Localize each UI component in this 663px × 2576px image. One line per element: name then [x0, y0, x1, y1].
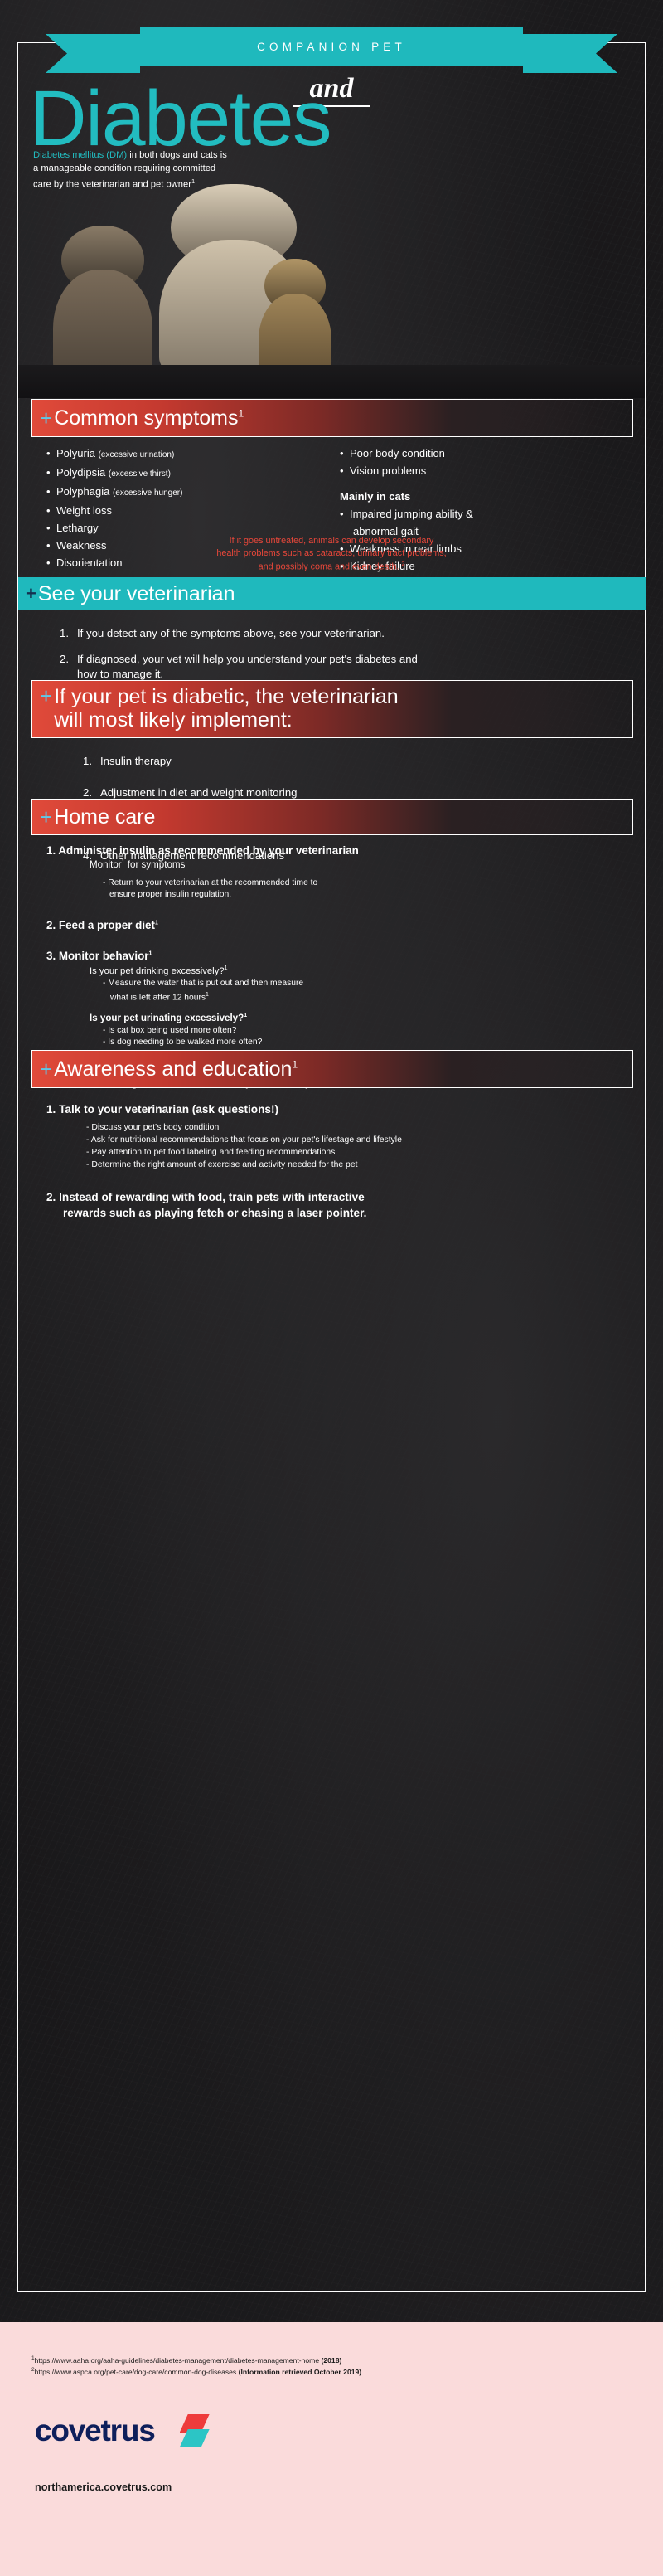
- page-title: Diabetes: [30, 80, 643, 158]
- ribbon-tail-left: [46, 34, 140, 73]
- awareness-title: Awareness and education1: [54, 1057, 298, 1081]
- photo-floor: [18, 365, 645, 398]
- common-symptoms-title: Common symptoms1: [54, 406, 244, 430]
- covetrus-mark-icon: [165, 2414, 211, 2447]
- list-item: Polyphagia (excessive hunger): [46, 483, 204, 502]
- reference-1: 1https://www.aaha.org/aaha-guidelines/di…: [31, 2354, 361, 2365]
- home-care-question-1-notes: - Measure the water that is put out and …: [103, 978, 618, 1004]
- list-item: Polydipsia (excessive thirst): [46, 464, 204, 483]
- warning-line-1: If it goes untreated, animals can develo…: [50, 535, 613, 547]
- awareness-content: 1. Talk to your veterinarian (ask questi…: [46, 1103, 627, 1221]
- list-item: 2. If diagnosed, your vet will help you …: [60, 652, 607, 682]
- awareness-step-2: 2. Instead of rewarding with food, train…: [46, 1189, 627, 1221]
- section-header-if-diabetic: + If your pet is diabetic, the veterinar…: [31, 680, 633, 738]
- footer: 1https://www.aaha.org/aaha-guidelines/di…: [0, 2322, 663, 2576]
- covetrus-logo[interactable]: covetrus: [35, 2413, 211, 2448]
- website-url[interactable]: northamerica.covetrus.com: [35, 2481, 172, 2493]
- home-care-question-2: Is your pet urinating excessively?1: [90, 1013, 618, 1023]
- awareness-step-1: 1. Talk to your veterinarian (ask questi…: [46, 1103, 627, 1115]
- infographic-page: COMPANION PET and Diabetes Diabetes mell…: [0, 0, 663, 2576]
- see-vet-title: See your veterinarian: [38, 582, 235, 605]
- list-item: Weight loss: [46, 502, 204, 519]
- home-care-step-1: 1. Administer insulin as recommended by …: [46, 844, 618, 857]
- list-item: Poor body condition: [340, 445, 605, 462]
- warning-ref: 2: [401, 561, 404, 567]
- if-diabetic-title: If your pet is diabetic, the veterinaria…: [54, 685, 399, 731]
- reference-2: 2https://www.aspca.org/pet-care/dog-care…: [31, 2365, 361, 2377]
- home-care-title: Home care: [54, 805, 155, 829]
- home-care-return-note: - Return to your veterinarian at the rec…: [103, 877, 618, 901]
- list-item: Vision problems: [340, 462, 605, 479]
- section-header-awareness-education: + Awareness and education1: [31, 1050, 633, 1088]
- intro-highlight: Diabetes mellitus (DM): [33, 150, 127, 160]
- pug-silhouette: [53, 226, 152, 383]
- section-header-home-care: + Home care: [31, 799, 633, 835]
- list-item: Lethargy: [46, 519, 204, 537]
- plus-icon: +: [40, 685, 52, 707]
- symptoms-right-list: Poor body condition Vision problems: [340, 445, 605, 479]
- list-item: Polyuria (excessive urination): [46, 445, 204, 464]
- covetrus-wordmark: covetrus: [35, 2413, 155, 2448]
- section-header-see-your-veterinarian: + See your veterinarian: [18, 577, 646, 610]
- symptoms-warning: If it goes untreated, animals can develo…: [50, 535, 613, 573]
- plus-icon: +: [40, 407, 52, 429]
- cats-subheading: Mainly in cats: [340, 488, 605, 505]
- list-item: 1. Insulin therapy: [83, 753, 597, 770]
- home-care-monitor: Monitor1 for symptoms: [90, 859, 618, 870]
- section-header-common-symptoms: + Common symptoms1: [31, 399, 633, 437]
- plus-icon: +: [26, 585, 36, 603]
- common-symptoms-ref: 1: [238, 408, 244, 420]
- plus-icon: +: [40, 806, 52, 828]
- plus-icon: +: [40, 1058, 52, 1080]
- home-care-question-1: Is your pet drinking excessively?1: [90, 965, 618, 976]
- warning-line-2: health problems such as cataracts, urina…: [50, 547, 613, 560]
- references: 1https://www.aaha.org/aaha-guidelines/di…: [31, 2354, 361, 2378]
- ribbon-tail-right: [523, 34, 617, 73]
- ribbon-banner: COMPANION PET: [140, 27, 523, 66]
- ribbon-label: COMPANION PET: [257, 41, 406, 53]
- home-care-step-3: 3. Monitor behavior1: [46, 950, 618, 962]
- warning-line-3: and possibly coma and even death. 2: [50, 559, 613, 573]
- home-care-step-2: 2. Feed a proper diet1: [46, 919, 618, 931]
- list-item: 1. If you detect any of the symptoms abo…: [60, 626, 607, 641]
- pets-photo: [18, 177, 645, 398]
- awareness-step-1-notes: - Discuss your pet's body condition - As…: [86, 1121, 627, 1171]
